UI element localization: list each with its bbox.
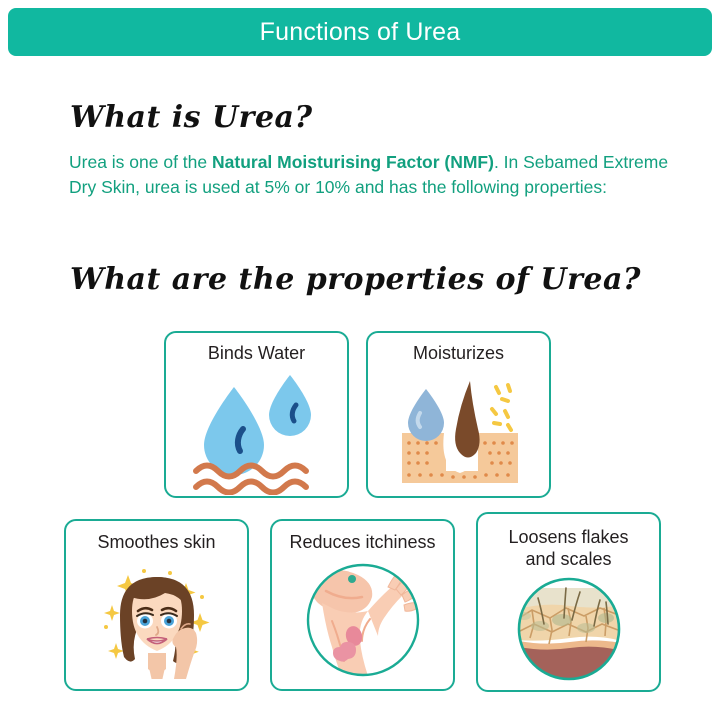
card-label: Binds Water: [166, 342, 347, 364]
intro-text-bold: Natural Moisturising Factor (NMF): [212, 152, 494, 172]
intro-paragraph: Urea is one of the Natural Moisturising …: [69, 150, 669, 200]
woman-face-sparkles-icon: [66, 557, 247, 687]
card-label: Reduces itchiness: [272, 531, 453, 553]
card-label: Smoothes skin: [66, 531, 247, 553]
intro-text-prefix: Urea is one of the: [69, 152, 212, 172]
heading-what-is-urea: What is Urea?: [70, 100, 313, 135]
card-moisturizes[interactable]: Moisturizes: [366, 331, 551, 498]
card-label: Loosens flakes and scales: [478, 526, 659, 570]
card-smoothes-skin[interactable]: Smoothes skin: [64, 519, 249, 691]
water-drops-waves-icon: [166, 367, 347, 495]
card-loosens-flakes[interactable]: Loosens flakes and scales: [476, 512, 661, 692]
card-label-line1: Loosens flakes: [508, 527, 628, 547]
dry-cracked-skin-icon: [478, 572, 659, 690]
irritated-arm-icon: [272, 557, 453, 687]
card-label-line2: and scales: [525, 549, 611, 569]
card-reduces-itchiness[interactable]: Reduces itchiness: [270, 519, 455, 691]
heading-properties-of-urea: What are the properties of Urea?: [70, 262, 641, 297]
card-binds-water[interactable]: Binds Water: [164, 331, 349, 498]
card-label: Moisturizes: [368, 342, 549, 364]
page-title: Functions of Urea: [260, 18, 461, 47]
hair-follicle-skin-icon: [368, 367, 549, 495]
header-bar: Functions of Urea: [8, 8, 712, 56]
